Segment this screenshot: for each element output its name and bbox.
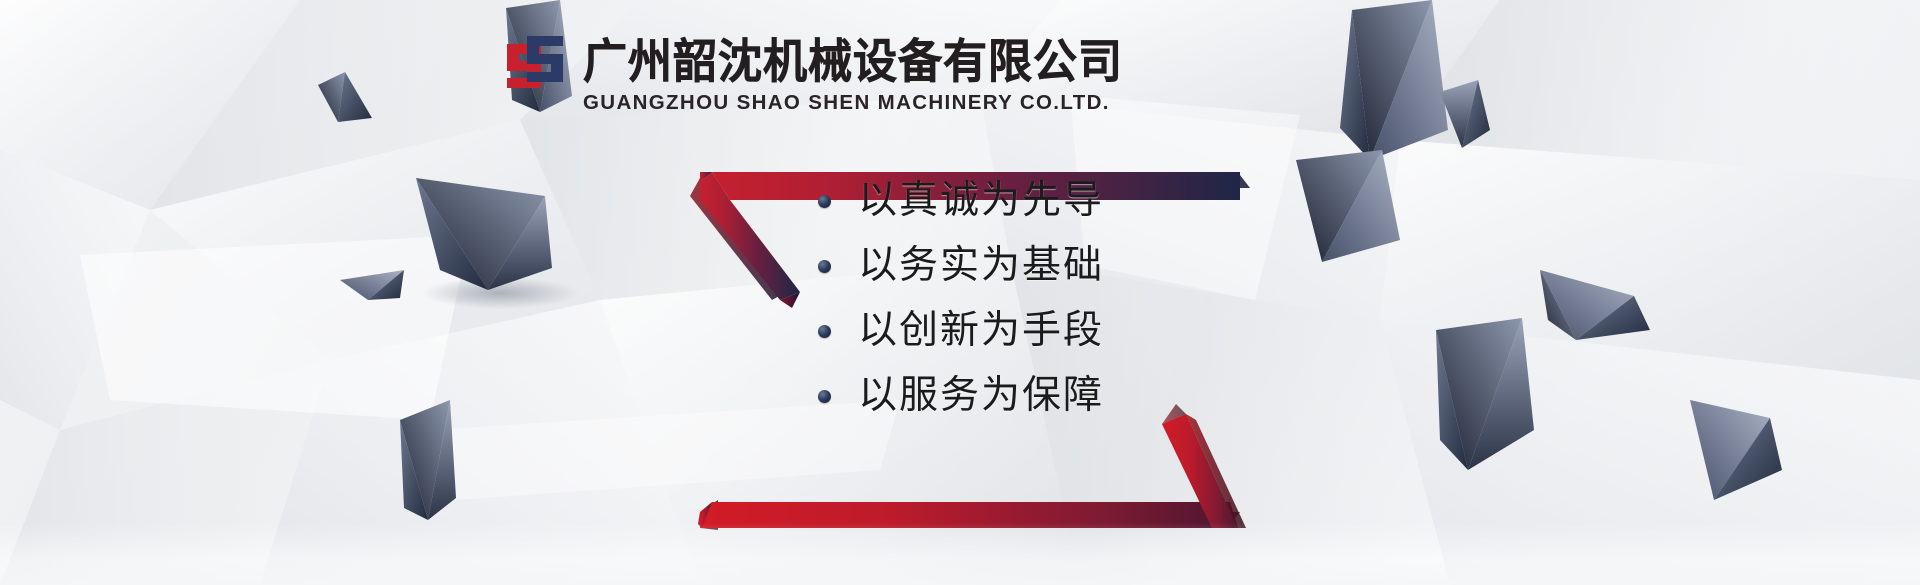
list-item: 以务实为基础: [818, 243, 1104, 289]
slogan-text: 以务实为基础: [858, 243, 1104, 289]
bullet-dot-icon: [818, 260, 831, 273]
bullet-dot-icon: [818, 195, 831, 208]
ss-monogram-logo: [505, 34, 567, 102]
slogan-text: 以真诚为先导: [858, 178, 1104, 224]
company-slogan-banner: 广州韶沈机械设备有限公司 GUANGZHOU SHAO SHEN MACHINE…: [0, 0, 1920, 585]
list-item: 以服务为保障: [818, 373, 1104, 419]
list-item: 以创新为手段: [818, 308, 1104, 354]
company-logo-block: 广州韶沈机械设备有限公司 GUANGZHOU SHAO SHEN MACHINE…: [505, 34, 1123, 115]
slogan-list: 以真诚为先导 以务实为基础 以创新为手段 以服务为保障: [818, 178, 1104, 419]
company-name-en: GUANGZHOU SHAO SHEN MACHINERY CO.LTD.: [583, 91, 1123, 115]
bullet-dot-icon: [818, 325, 831, 338]
bullet-dot-icon: [818, 390, 831, 403]
slogan-text: 以服务为保障: [858, 373, 1104, 419]
slogan-text: 以创新为手段: [858, 308, 1104, 354]
company-name-cn: 广州韶沈机械设备有限公司: [583, 36, 1123, 89]
list-item: 以真诚为先导: [818, 178, 1104, 224]
